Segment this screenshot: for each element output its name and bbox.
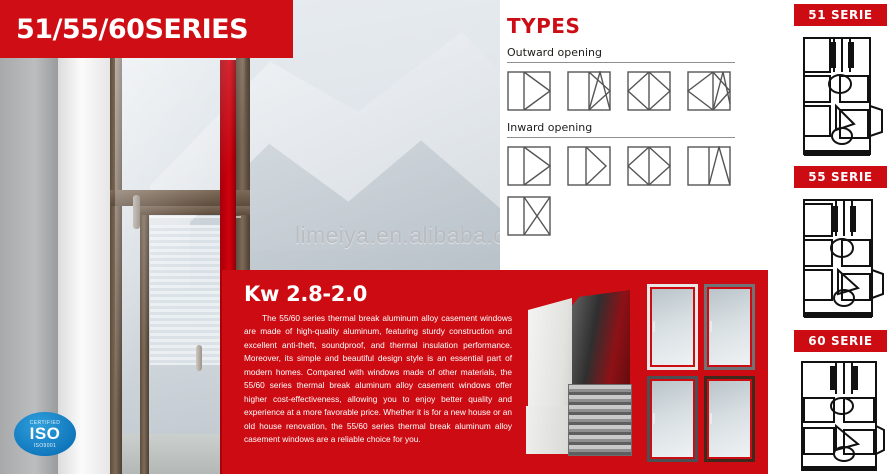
outward-symbol-row (507, 71, 780, 111)
outward-opening-label: Outward opening (507, 46, 780, 59)
window-pane (652, 381, 693, 457)
outward-divider (507, 62, 735, 63)
description-panel: Kw 2.8-2.0 The 55/60 series thermal brea… (222, 270, 768, 474)
wall-left (0, 0, 58, 474)
serie-badge-51[interactable]: 51 SERIE (794, 4, 887, 26)
window-handle-lower (196, 345, 202, 371)
window-pane (709, 289, 750, 365)
window-white (647, 284, 698, 370)
window-grey (704, 284, 755, 370)
inward-top-hung-icon (687, 146, 731, 186)
product-poster: CERTIFIED ISO ISO9001 51/55/60SERIES lim… (0, 0, 891, 474)
outward-side-hung-right-icon (507, 71, 551, 111)
inward-side-hung-narrow-icon (567, 146, 611, 186)
window-handle-icon (710, 413, 712, 424)
series-banner-title: 51/55/60SERIES (16, 14, 248, 45)
inward-symbol-row (507, 146, 780, 186)
profile-section-51 (796, 32, 886, 160)
profile-corner-cutaway-image (522, 288, 637, 460)
inward-opening-label: Inward opening (507, 121, 780, 134)
window-pane (652, 289, 693, 365)
wall-pillar (58, 0, 110, 474)
window-handle (133, 195, 140, 229)
window-dark-grey (647, 376, 698, 462)
inward-side-hung-right-icon (507, 146, 551, 186)
window-handle-icon (710, 321, 712, 332)
types-panel: TYPES Outward opening Inward opening (500, 0, 790, 262)
series-sidebar: 51 SERIE (790, 0, 891, 474)
window-handle-icon (653, 413, 655, 424)
window-variants-grid (647, 284, 755, 462)
inward-double-leaf-icon (627, 146, 671, 186)
inward-tilt-turn-x-icon (507, 196, 551, 236)
corner-thermal-break-core (568, 384, 632, 456)
outward-tilt-turn-right-icon (567, 71, 611, 111)
profile-section-60 (796, 358, 886, 474)
serie-badge-55-label: 55 SERIE (808, 170, 872, 184)
inward-symbol-row-2 (507, 196, 780, 236)
window-handle-icon (653, 321, 655, 332)
window-frame-left (110, 0, 122, 474)
serie-badge-51-label: 51 SERIE (808, 8, 872, 22)
description-text-block: Kw 2.8-2.0 The 55/60 series thermal brea… (244, 282, 512, 446)
iso-badge-top: CERTIFIED (30, 420, 61, 426)
iso-badge-main: ISO (30, 425, 61, 442)
outward-double-leaf-icon (627, 71, 671, 111)
kw-value-title: Kw 2.8-2.0 (244, 282, 512, 306)
description-paragraph: The 55/60 series thermal break aluminum … (244, 312, 512, 446)
outward-combined-icon (687, 71, 731, 111)
window-pane (709, 381, 750, 457)
iso-badge-sub: ISO9001 (34, 443, 57, 449)
iso-certification-badge: CERTIFIED ISO ISO9001 (14, 412, 76, 456)
inward-divider (507, 137, 735, 138)
types-heading: TYPES (507, 14, 780, 38)
series-banner: 51/55/60SERIES (0, 0, 293, 58)
serie-badge-55[interactable]: 55 SERIE (794, 166, 887, 188)
sash-stile-left (140, 206, 149, 474)
window-brown (704, 376, 755, 462)
serie-badge-60[interactable]: 60 SERIE (794, 330, 887, 352)
profile-section-55 (796, 194, 886, 322)
serie-badge-60-label: 60 SERIE (808, 334, 872, 348)
